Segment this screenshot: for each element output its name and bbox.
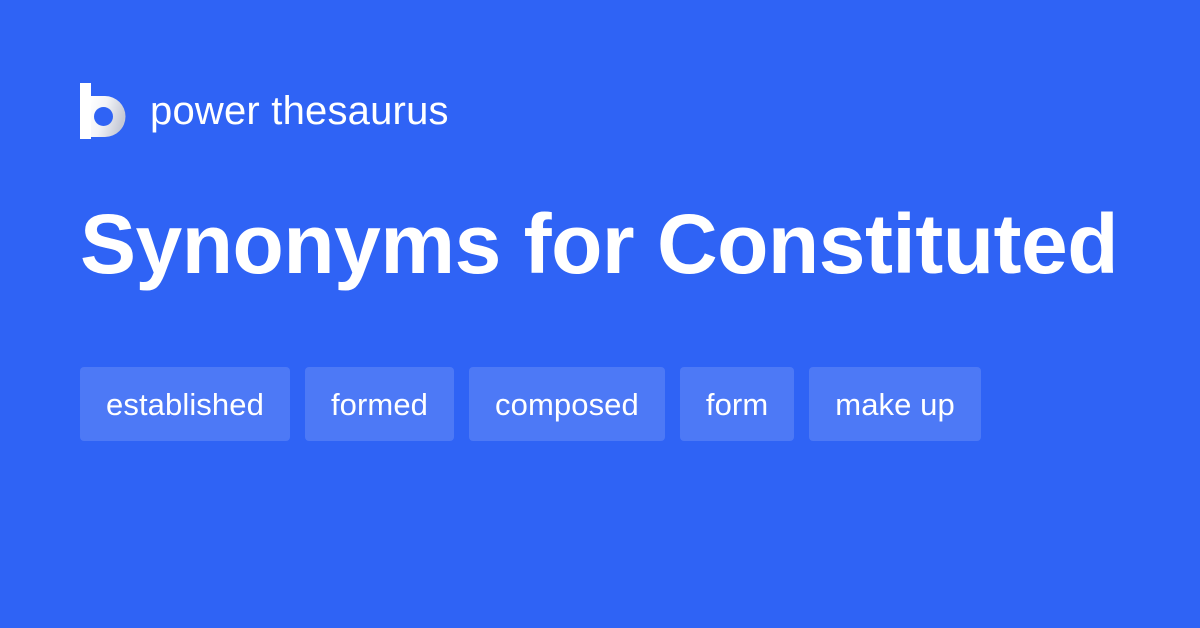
synonym-chip[interactable]: established [80, 367, 290, 441]
share-card: power thesaurus Synonyms for Constituted… [0, 0, 1200, 628]
synonym-chip[interactable]: composed [469, 367, 665, 441]
power-thesaurus-b-logo-icon [80, 83, 128, 139]
synonym-chip[interactable]: form [680, 367, 794, 441]
synonym-chip-list: established formed composed form make up [80, 367, 1140, 441]
brand-lockup[interactable]: power thesaurus [80, 80, 449, 142]
brand-name: power thesaurus [150, 91, 449, 131]
page-title: Synonyms for Constituted [80, 196, 1140, 292]
synonym-chip[interactable]: formed [305, 367, 454, 441]
synonym-chip[interactable]: make up [809, 367, 981, 441]
